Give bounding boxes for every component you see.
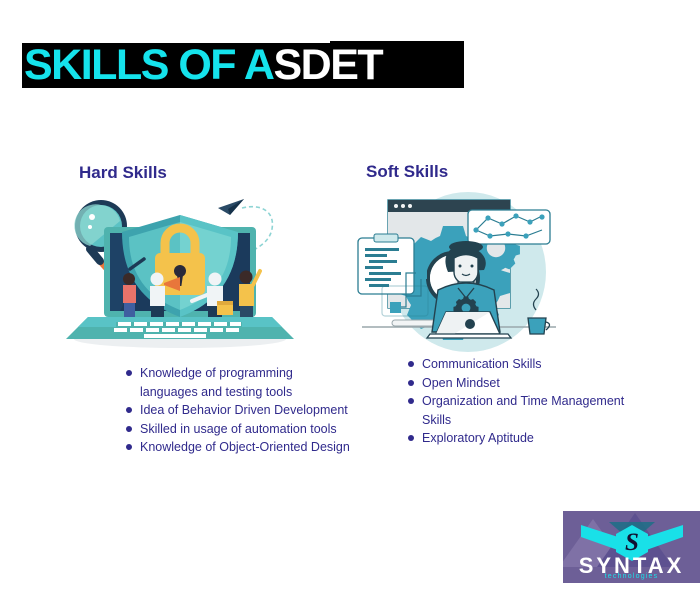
hard-skills-list: Knowledge of programming languages and t… <box>123 364 353 457</box>
list-item: Knowledge of programming languages and t… <box>123 364 353 401</box>
list-item: Exploratory Aptitude <box>405 429 645 448</box>
hard-skills-column: Hard Skills <box>60 150 350 457</box>
list-item: Organization and Time Management Skills <box>405 392 645 429</box>
hard-skills-heading: Hard Skills <box>60 150 350 183</box>
page-title-primary: SKILLS OF A <box>24 41 273 89</box>
laptop-shield-lock-icon <box>60 191 300 356</box>
list-item: Skilled in usage of automation tools <box>123 420 353 439</box>
syntax-logo: S SYNTAX technologies <box>563 511 700 583</box>
list-item: Knowledge of Object-Oriented Design <box>123 438 353 457</box>
soft-skills-list: Communication Skills Open Mindset Organi… <box>405 355 645 448</box>
list-item: Open Mindset <box>405 374 645 393</box>
page-title: SKILLS OF ASDET <box>24 40 382 90</box>
hard-skills-illustration <box>60 191 350 356</box>
list-item: Communication Skills <box>405 355 645 374</box>
soft-skills-illustration <box>350 190 650 355</box>
soft-skills-heading: Soft Skills <box>350 150 650 182</box>
page-title-secondary: SDET <box>273 41 382 89</box>
logo-tagline: technologies <box>563 573 700 580</box>
developer-workspace-icon <box>350 190 570 355</box>
list-item: Idea of Behavior Driven Development <box>123 401 353 420</box>
soft-skills-column: Soft Skills <box>350 150 650 448</box>
